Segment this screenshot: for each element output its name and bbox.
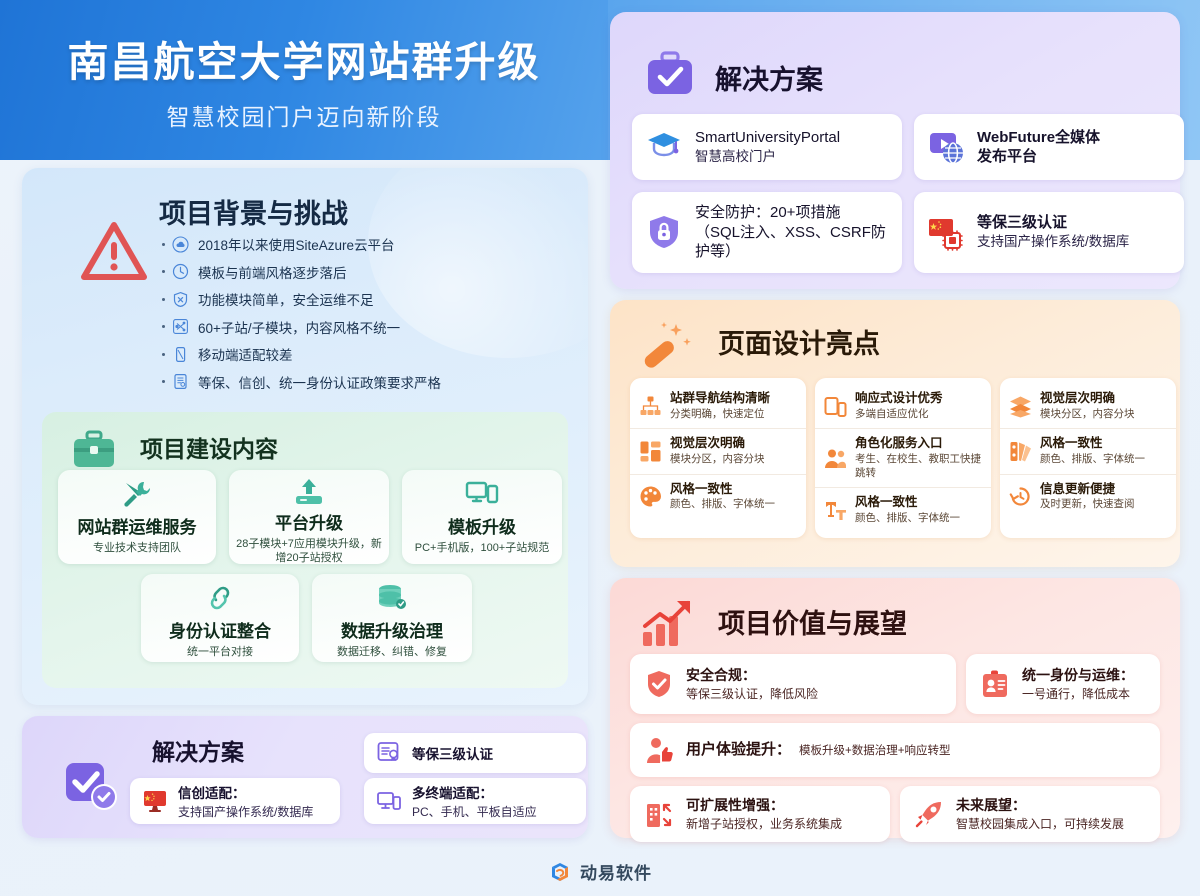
background-panel: 项目背景与挑战 2018年以来使用SiteAzure云平台 模板与前端风格逐步落… [22,168,588,705]
value-card-text: 可扩展性增强： 新增子站授权，业务系统集成 [686,796,842,831]
build-panel: 项目建设内容 网站群运维服务 专业技术支持团队 平台升级 28子模块+7应用模块… [42,412,568,688]
item-title: 角色化服务入口 [855,436,982,452]
build-row-1: 网站群运维服务 专业技术支持团队 平台升级 28子模块+7应用模块升级，新增20… [58,470,562,564]
value-card-list: 安全合规： 等保三级认证，降低风险 统一身份与运维： 一号通行，降低成本 [630,654,1160,851]
build-card-title: 身份认证整合 [169,617,271,642]
page-header: 南昌航空大学网站群升级 智慧校园门户迈向新阶段 [0,0,608,160]
design-grid: 站群导航结构清晰 分类明确，快速定位 视觉层次明确 模块分区，内容分块 风格 [630,378,1176,538]
solution-card-text: SmartUniversityPortal 智慧高校门户 [695,128,840,166]
footer: 动易软件 [0,859,1200,884]
certificate-badge-icon [376,740,402,766]
list-item: 移动端适配较差 [162,344,441,364]
chip-sub: PC、手机、平板自适应 [412,803,537,820]
design-item[interactable]: 角色化服务入口 考生、在校生、教职工快捷跳转 [815,429,991,488]
card-title: 安全防护：20+项措施 [695,203,889,223]
typography-icon [824,499,847,522]
chip-title: 等保三级认证 [412,743,493,763]
background-title: 项目背景与挑战 [159,192,348,231]
build-card-sub: 专业技术支持团队 [87,541,187,555]
solution-card-text: WebFuture全媒体 发布平台 [977,128,1100,167]
card-sub: 支持国产操作系统/数据库 [977,233,1129,251]
footer-brand: 动易软件 [580,859,652,884]
briefcase-icon [70,428,118,472]
database-icon [375,581,409,615]
swatches-icon [1009,440,1032,463]
bullet-dot [162,243,165,246]
dongyi-logo-icon [548,860,572,884]
users-icon [824,447,847,470]
video-globe-icon [927,128,965,166]
design-item[interactable]: 风格一致性 颜色、排版、字体统一 [630,475,806,519]
list-item-label: 移动端适配较差 [198,344,293,364]
list-item-label: 模板与前端风格逐步落后 [198,262,347,282]
solution-card-webfuture[interactable]: WebFuture全媒体 发布平台 [914,114,1184,180]
flag-chip-icon [927,213,965,251]
building-expand-icon [644,799,674,829]
design-item[interactable]: 响应式设计优秀 多端自适应优化 [815,384,991,429]
multi-device-icon [376,788,402,814]
item-sub: 颜色、排版、字体统一 [1040,453,1145,467]
user-thumbup-icon [644,735,674,765]
shield-check-icon [644,669,674,699]
page-title: 南昌航空大学网站群升级 [68,28,541,88]
value-title: 项目价值与展望 [718,602,907,641]
design-item[interactable]: 风格一致性 颜色、排版、字体统一 [1000,429,1176,474]
briefcase-check-icon [643,50,697,102]
solution-card-grid: SmartUniversityPortal 智慧高校门户 WebFuture全媒… [632,114,1184,273]
solution-chip-text: 多终端适配： PC、手机、平板自适应 [412,782,537,820]
solution-card-security[interactable]: 安全防护：20+项措施 （SQL注入、XSS、CSRF防护等） [632,192,902,273]
magic-wand-icon [640,318,698,370]
rocket-icon [914,799,944,829]
solution-chip-multidevice[interactable]: 多终端适配： PC、手机、平板自适应 [364,778,586,824]
card-title: 未来展望： [956,796,1124,814]
solution-panel-bottom: 解决方案 信创适配： 支持国产操作系统/数据库 等保三级认证 多终端适配： PC… [22,716,588,838]
item-sub: 分类明确，快速定位 [670,408,770,422]
value-card-security[interactable]: 安全合规： 等保三级认证，降低风险 [630,654,956,714]
build-card-sub: 数据迁移、纠错、修复 [331,645,453,659]
item-title: 视觉层次明确 [670,436,765,452]
item-sub: 多端自适应优化 [855,408,943,422]
design-panel: 页面设计亮点 站群导航结构清晰 分类明确，快速定位 视觉层次明确 模块分区，内容 [610,300,1180,567]
page-subtitle: 智慧校园门户迈向新阶段 [167,98,442,132]
card-sub: 等保三级认证，降低风险 [686,686,818,702]
build-title: 项目建设内容 [140,430,278,464]
solution-chip-text: 信创适配： 支持国产操作系统/数据库 [178,782,313,820]
card-title: 统一身份与运维： [1022,666,1134,684]
solution-card-dengbao[interactable]: 等保三级认证 支持国产操作系统/数据库 [914,192,1184,273]
build-card-sub: 统一平台对接 [181,645,259,659]
item-title: 风格一致性 [855,495,960,511]
responsive-devices-icon [824,395,847,418]
chip-sub: 支持国产操作系统/数据库 [178,803,313,820]
build-card-title: 模板升级 [448,513,516,538]
build-card[interactable]: 模板升级 PC+手机版，100+子站规范 [402,470,562,564]
upload-icon [292,477,326,507]
card-sub: 模板升级+数据治理+响应转型 [799,744,950,760]
design-item[interactable]: 视觉层次明确 模块分区，内容分块 [1000,384,1176,429]
list-item-label: 等保、信创、统一身份认证政策要求严格 [198,372,441,392]
solution-chip-text: 等保三级认证 [412,743,493,763]
build-card-title: 网站群运维服务 [78,513,197,538]
list-item-label: 功能模块简单，安全运维不足 [198,289,374,309]
cloud-lock-icon [172,236,189,253]
list-item: 功能模块简单，安全运维不足 [162,289,441,309]
list-item: 模板与前端风格逐步落后 [162,262,441,282]
list-item-label: 60+子站/子模块，内容风格不统一 [198,317,400,337]
card-title: 等保三级认证 [977,213,1129,233]
list-item: 等保、信创、统一身份认证政策要求严格 [162,372,441,392]
design-item-text: 风格一致性 颜色、排版、字体统一 [670,482,775,512]
mobile-icon [172,346,189,363]
item-title: 信息更新便捷 [1040,482,1135,498]
challenge-list: 2018年以来使用SiteAzure云平台 模板与前端风格逐步落后 功能模块简单… [162,234,441,399]
card-title: 用户体验提升： [686,740,791,760]
certificate-icon [172,373,189,390]
build-card[interactable]: 数据升级治理 数据迁移、纠错、修复 [312,574,472,662]
design-column: 站群导航结构清晰 分类明确，快速定位 视觉层次明确 模块分区，内容分块 风格 [630,378,806,538]
solution-panel-top: 解决方案 SmartUniversityPortal 智慧高校门户 WebFut… [610,12,1180,289]
solution-chip-xinchuang[interactable]: 信创适配： 支持国产操作系统/数据库 [130,778,340,824]
design-title: 页面设计亮点 [718,322,880,361]
layers-icon [1009,395,1032,418]
sitemap-orange-icon [639,395,662,418]
value-row-2: 用户体验提升： 模板升级+数据治理+响应转型 [630,723,1160,777]
palette-icon [639,485,662,508]
list-item: 60+子站/子模块，内容风格不统一 [162,317,441,337]
chip-title: 多终端适配： [412,782,537,802]
card-title: WebFuture全媒体 [977,128,1100,148]
value-card-identity[interactable]: 统一身份与运维： 一号通行，降低成本 [966,654,1160,714]
card-sub: 智慧校园集成入口，可持续发展 [956,816,1124,832]
value-card-text: 安全合规： 等保三级认证，降低风险 [686,666,818,701]
graduation-cap-icon [645,128,683,166]
design-item-text: 响应式设计优秀 多端自适应优化 [855,391,943,421]
layout-blocks-icon [639,440,662,463]
value-card-scalability[interactable]: 可扩展性增强： 新增子站授权，业务系统集成 [630,786,890,842]
value-card-ux[interactable]: 用户体验提升： 模板升级+数据治理+响应转型 [630,723,1160,777]
card-sub: 一号通行，降低成本 [1022,686,1134,702]
value-card-text: 未来展望： 智慧校园集成入口，可持续发展 [956,796,1124,831]
item-title: 视觉层次明确 [1040,391,1135,407]
value-row-1: 安全合规： 等保三级认证，降低风险 统一身份与运维： 一号通行，降低成本 [630,654,1160,714]
bullet-dot [162,380,165,383]
design-item[interactable]: 信息更新便捷 及时更新，快速查阅 [1000,475,1176,519]
bullet-dot [162,353,165,356]
solution-bottom-title: 解决方案 [152,733,244,767]
design-item-text: 信息更新便捷 及时更新，快速查阅 [1040,482,1135,512]
design-item-text: 风格一致性 颜色、排版、字体统一 [855,495,960,525]
build-row-2: 身份认证整合 统一平台对接 数据升级治理 数据迁移、纠错、修复 [141,574,472,662]
build-card[interactable]: 身份认证整合 统一平台对接 [141,574,299,662]
build-card-title: 数据升级治理 [341,617,443,642]
card-sub: 新增子站授权，业务系统集成 [686,816,842,832]
design-item[interactable]: 视觉层次明确 模块分区，内容分块 [630,429,806,474]
clock-icon [172,263,189,280]
card-sub: （SQL注入、XSS、CSRF防护等） [695,223,889,262]
solution-card-portal[interactable]: SmartUniversityPortal 智慧高校门户 [632,114,902,180]
design-column: 响应式设计优秀 多端自适应优化 角色化服务入口 考生、在校生、教职工快捷跳转 [815,378,991,538]
item-title: 响应式设计优秀 [855,391,943,407]
card-sub: 智慧高校门户 [695,148,840,166]
design-item-text: 角色化服务入口 考生、在校生、教职工快捷跳转 [855,436,982,480]
design-item-text: 站群导航结构清晰 分类明确，快速定位 [670,391,770,421]
card-title: 可扩展性增强： [686,796,842,814]
devices-icon [465,477,499,511]
build-card-sub: PC+手机版，100+子站规范 [409,541,555,555]
solution-card-text: 等保三级认证 支持国产操作系统/数据库 [977,213,1129,251]
bullet-dot [162,270,165,273]
card-title: SmartUniversityPortal [695,128,840,148]
bullet-dot [162,325,165,328]
solution-top-title: 解决方案 [715,58,823,97]
chip-title: 信创适配： [178,782,313,802]
build-card[interactable]: 平台升级 28子模块+7应用模块升级，新增20子站授权 [229,470,389,564]
bullet-dot [162,298,165,301]
value-card-text: 统一身份与运维： 一号通行，降低成本 [1022,666,1134,701]
design-item[interactable]: 风格一致性 颜色、排版、字体统一 [815,488,991,532]
list-item: 2018年以来使用SiteAzure云平台 [162,234,441,254]
china-flag-monitor-icon [142,788,168,814]
tools-icon [120,477,154,511]
design-item[interactable]: 站群导航结构清晰 分类明确，快速定位 [630,384,806,429]
design-item-text: 风格一致性 颜色、排版、字体统一 [1040,436,1145,466]
item-title: 风格一致性 [670,482,775,498]
build-card-sub: 28子模块+7应用模块升级，新增20子站授权 [229,537,389,566]
clock-back-icon [1009,485,1032,508]
value-row-3: 可扩展性增强： 新增子站授权，业务系统集成 未来展望： 智慧校园集成入口，可持续… [630,786,1160,842]
growth-chart-icon [640,598,698,650]
checkbox-check-icon [64,761,120,813]
card-sub: 发布平台 [977,147,1100,167]
build-card[interactable]: 网站群运维服务 专业技术支持团队 [58,470,216,564]
shield-x-icon [172,291,189,308]
item-sub: 考生、在校生、教职工快捷跳转 [855,453,982,480]
value-panel: 项目价值与展望 安全合规： 等保三级认证，降低风险 统一身份与运维： 一号通行，… [610,578,1180,838]
link-chain-icon [203,581,237,615]
design-column: 视觉层次明确 模块分区，内容分块 风格一致性 颜色、排版、字体统一 信息更新 [1000,378,1176,538]
value-card-text: 用户体验提升： 模板升级+数据治理+响应转型 [686,740,950,760]
item-sub: 颜色、排版、字体统一 [670,498,775,512]
solution-chip-certification[interactable]: 等保三级认证 [364,733,586,773]
id-card-icon [980,669,1010,699]
solution-card-text: 安全防护：20+项措施 （SQL注入、XSS、CSRF防护等） [695,203,889,262]
design-item-text: 视觉层次明确 模块分区，内容分块 [670,436,765,466]
shield-lock-icon [645,213,683,251]
design-item-text: 视觉层次明确 模块分区，内容分块 [1040,391,1135,421]
sitemap-icon [172,318,189,335]
build-card-title: 平台升级 [275,509,343,534]
card-title: 安全合规： [686,666,818,684]
item-sub: 模块分区，内容分块 [670,453,765,467]
warning-triangle-icon [80,220,148,282]
value-card-future[interactable]: 未来展望： 智慧校园集成入口，可持续发展 [900,786,1160,842]
item-sub: 模块分区，内容分块 [1040,408,1135,422]
list-item-label: 2018年以来使用SiteAzure云平台 [198,234,395,254]
item-sub: 颜色、排版、字体统一 [855,512,960,526]
item-title: 风格一致性 [1040,436,1145,452]
item-sub: 及时更新，快速查阅 [1040,498,1135,512]
item-title: 站群导航结构清晰 [670,391,770,407]
